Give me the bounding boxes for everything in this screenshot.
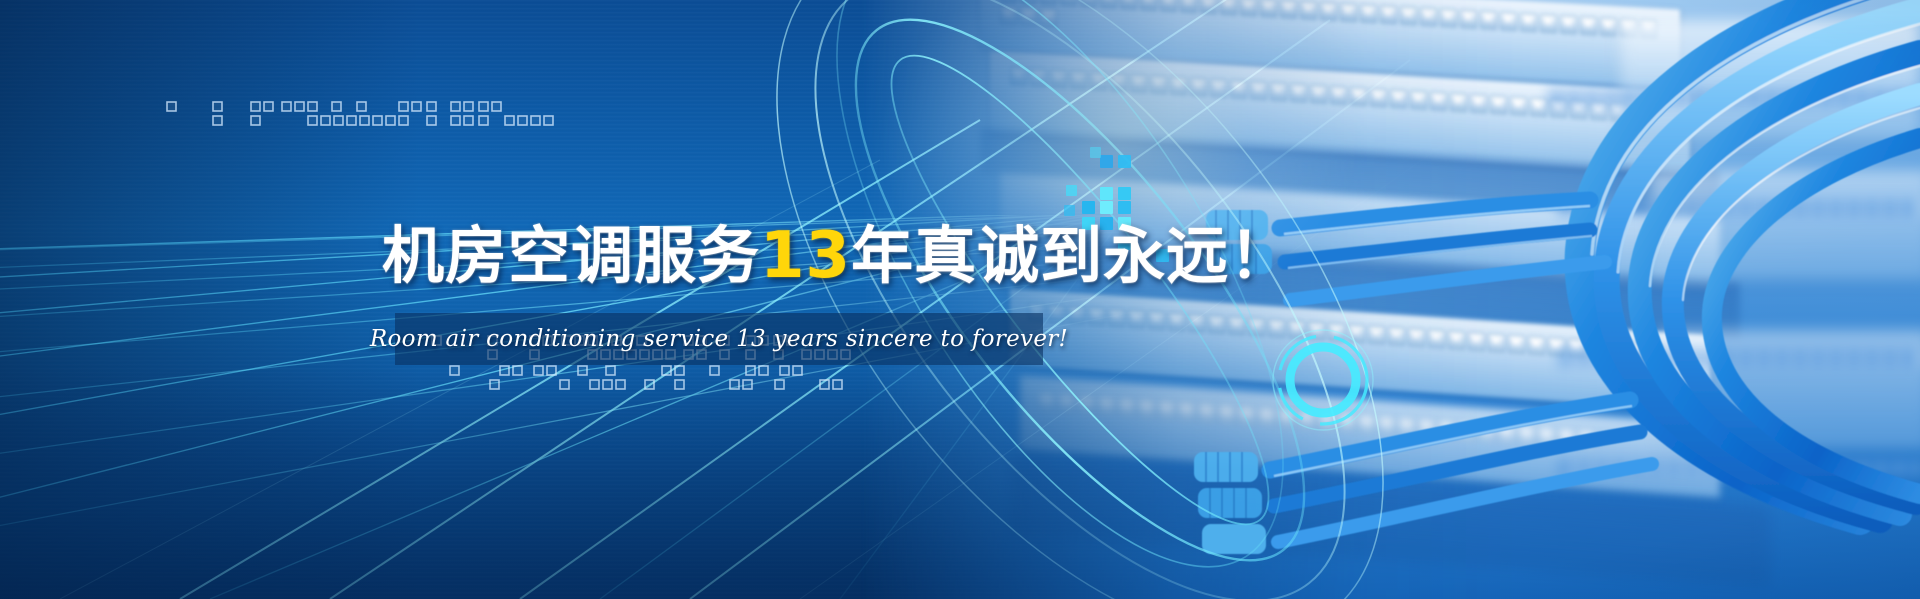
far-port-strip-2 [1560,200,1920,216]
rack-panel-far-2 [1650,170,1920,280]
page-title: 机房空调服务13年真诚到永远！ [382,205,1292,295]
headline-years-number: 13 [760,219,851,293]
headline-part-after: 年真诚到永远！ [851,219,1292,292]
page-subtitle: Room air conditioning service 13 years s… [395,313,1043,365]
hero-banner: 机房空调服务13年真诚到永远！ Room air conditioning se… [0,0,1920,599]
rack-panel-far-3 [1660,330,1920,450]
far-port-strip-1 [1550,90,1920,106]
server-rack-photo [860,0,1920,599]
headline-part-before: 机房空调服务 [382,219,760,292]
rack-panel-far-1 [1620,20,1920,140]
tech-ring-icon [1268,325,1378,435]
far-port-strip-3 [1560,350,1920,366]
far-port-strip-4 [1560,460,1920,476]
